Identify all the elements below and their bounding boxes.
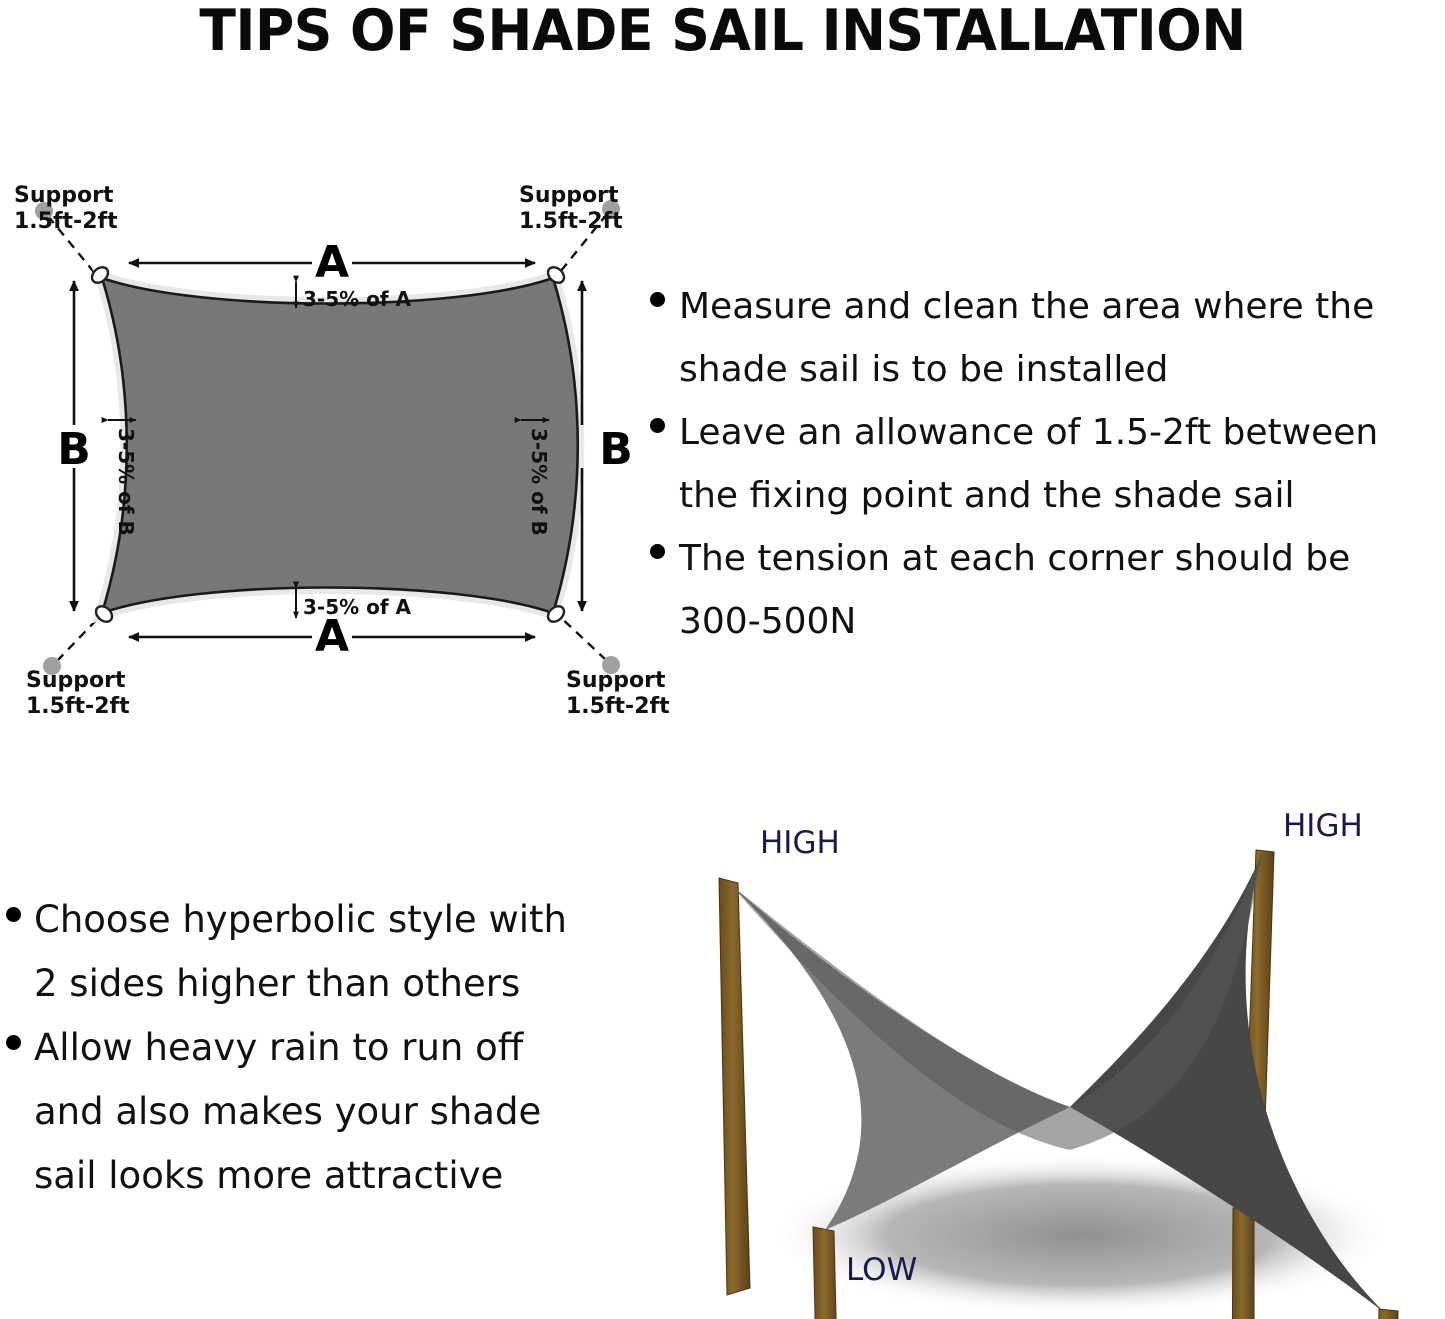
dimension-label-width-top: A xyxy=(315,237,349,288)
dimension-label-height-left: B xyxy=(57,424,91,475)
list-item-text: sail looks more attractive xyxy=(34,1144,503,1208)
list-item: Choose hyperbolic style with xyxy=(0,888,640,952)
support-label-bottom-right: Support 1.5ft-2ft xyxy=(566,668,670,720)
list-item-text: Choose hyperbolic style with xyxy=(34,888,567,952)
support-label-top-right: Support 1.5ft-2ft xyxy=(519,183,623,235)
support-label-top-right-line1: Support xyxy=(519,183,623,209)
curve-label-top: 3-5% of A xyxy=(303,287,412,311)
list-item-text: Allow heavy rain to run off xyxy=(34,1016,523,1080)
label-low-left: LOW xyxy=(846,1252,917,1288)
label-high-left: HIGH xyxy=(760,825,840,861)
bullet-dot-icon xyxy=(6,907,21,922)
curve-label-right: 3-5% of B xyxy=(527,428,551,536)
bullet-spacer-icon xyxy=(650,481,665,496)
bullet-spacer-icon xyxy=(6,1163,21,1178)
curve-label-left: 3-5% of B xyxy=(114,428,138,536)
post-high-left xyxy=(719,878,750,1295)
bullet-spacer-icon xyxy=(6,971,21,986)
support-connector-bottom-right xyxy=(556,613,620,674)
list-item-text: 2 sides higher than others xyxy=(34,952,520,1016)
bullet-dot-icon xyxy=(650,292,665,307)
curve-label-bottom: 3-5% of A xyxy=(303,595,412,619)
support-label-bottom-right-line1: Support xyxy=(566,668,670,694)
list-item-text: and also makes your shade xyxy=(34,1080,541,1144)
list-item-text: shade sail is to be installed xyxy=(679,338,1168,401)
hyperbolic-sail-diagram: HIGH HIGH LOW LOW xyxy=(650,790,1445,1319)
list-item-text: the fixing point and the shade sail xyxy=(679,464,1294,527)
support-label-bottom-right-line2: 1.5ft-2ft xyxy=(566,694,670,720)
support-label-bottom-left-line2: 1.5ft-2ft xyxy=(26,694,130,720)
list-item-text: The tension at each corner should be xyxy=(679,527,1350,590)
bullet-spacer-icon xyxy=(650,355,665,370)
list-item: Allow heavy rain to run off xyxy=(0,1016,640,1080)
rect-sail-svg: A 3-5% of A A 3-5% of A B 3-5% of B xyxy=(0,170,660,730)
list-item: shade sail is to be installed xyxy=(650,338,1445,401)
hyperbolic-sail-svg: HIGH HIGH LOW LOW xyxy=(650,790,1445,1319)
list-item: 300-500N xyxy=(650,590,1445,653)
list-item: Measure and clean the area where the xyxy=(650,275,1445,338)
list-item: 2 sides higher than others xyxy=(0,952,640,1016)
bullet-dot-icon xyxy=(6,1035,21,1050)
list-item-text: Measure and clean the area where the xyxy=(679,275,1374,338)
post-low-left xyxy=(813,1227,838,1319)
list-item-text: 300-500N xyxy=(679,590,856,653)
page-title-text: TIPS OF SHADE SAIL INSTALLATION xyxy=(199,2,1245,60)
shade-sail-shape xyxy=(102,278,578,613)
list-item: and also makes your shade xyxy=(0,1080,640,1144)
bullet-spacer-icon xyxy=(6,1099,21,1114)
post-low-right xyxy=(1232,1208,1254,1319)
bullet-dot-icon xyxy=(650,418,665,433)
support-label-top-left-line1: Support xyxy=(14,183,118,209)
support-label-top-left-line2: 1.5ft-2ft xyxy=(14,209,118,235)
support-label-top-left: Support 1.5ft-2ft xyxy=(14,183,118,235)
tips-list-left: Choose hyperbolic style with 2 sides hig… xyxy=(0,888,640,1208)
list-item: the fixing point and the shade sail xyxy=(650,464,1445,527)
list-item: The tension at each corner should be xyxy=(650,527,1445,590)
post-low-far-right xyxy=(1373,1309,1398,1319)
list-item: sail looks more attractive xyxy=(0,1144,640,1208)
support-label-bottom-left: Support 1.5ft-2ft xyxy=(26,668,130,720)
list-item: Leave an allowance of 1.5-2ft between xyxy=(650,401,1445,464)
curve-measure-left: 3-5% of B xyxy=(108,420,138,536)
curve-measure-top: 3-5% of A xyxy=(296,282,412,311)
label-high-right: HIGH xyxy=(1283,808,1363,844)
support-label-top-right-line2: 1.5ft-2ft xyxy=(519,209,623,235)
list-item-text: Leave an allowance of 1.5-2ft between xyxy=(679,401,1378,464)
bullet-spacer-icon xyxy=(650,607,665,622)
support-label-bottom-left-line1: Support xyxy=(26,668,130,694)
rectangular-sail-diagram: Support 1.5ft-2ft Support 1.5ft-2ft Supp… xyxy=(0,170,660,730)
tips-list-right: Measure and clean the area where the sha… xyxy=(650,275,1445,653)
bullet-dot-icon xyxy=(650,544,665,559)
page-title: TIPS OF SHADE SAIL INSTALLATION xyxy=(0,0,1445,62)
dimension-label-height-right: B xyxy=(599,424,633,475)
